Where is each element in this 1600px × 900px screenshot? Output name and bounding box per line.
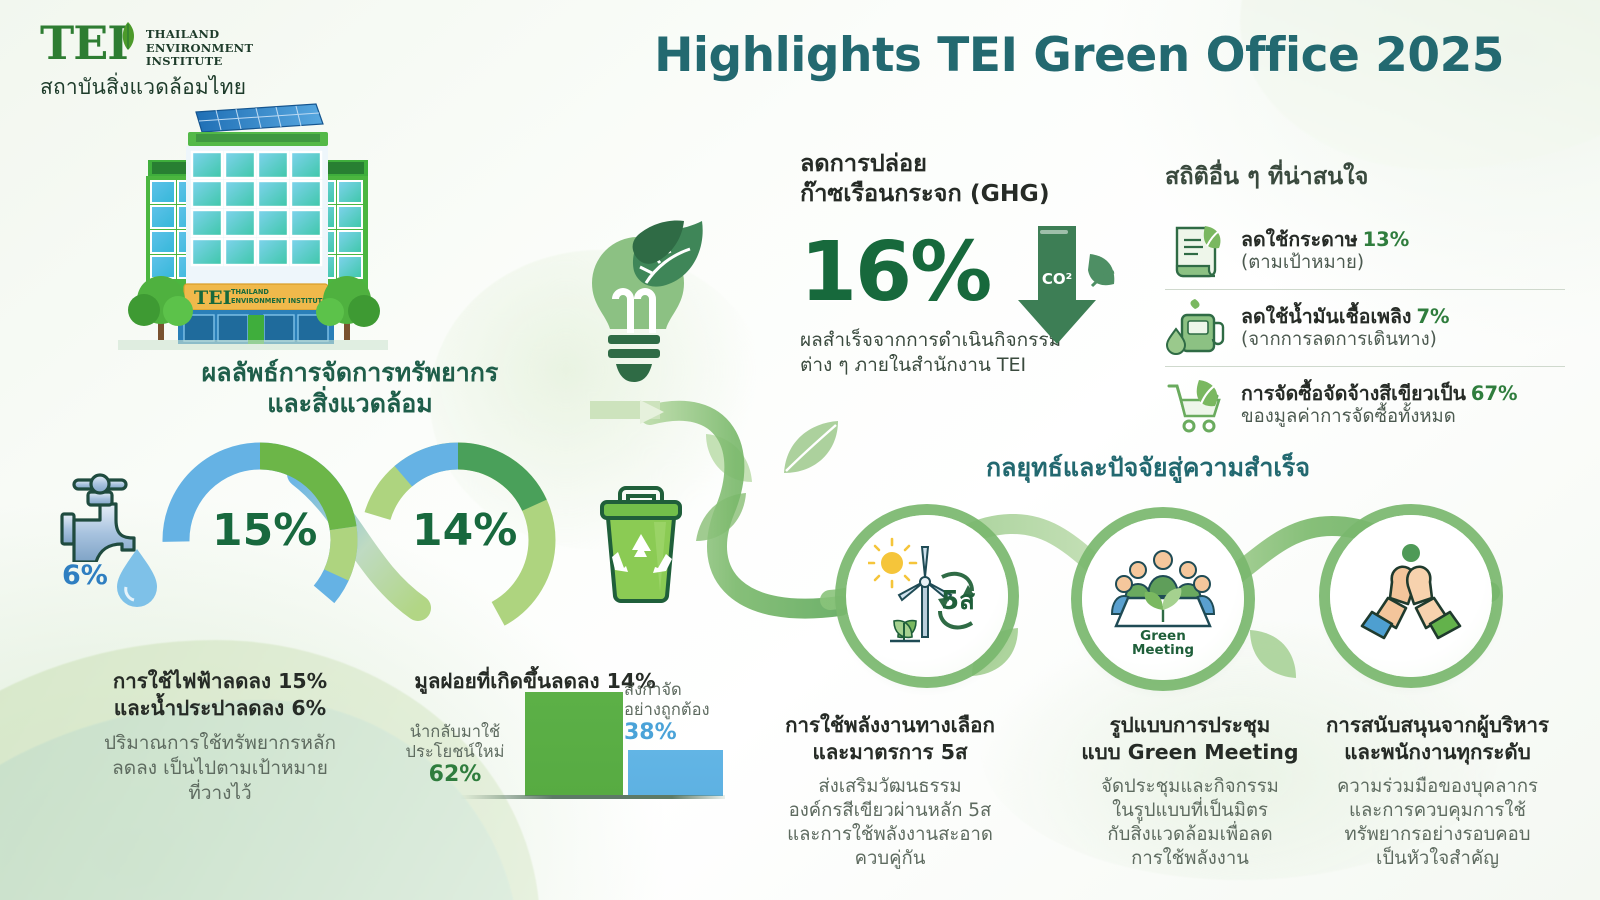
wind-turbine-5s-icon: 5ส bbox=[868, 537, 986, 655]
resources-caption-body: ปริมาณการใช้ทรัพยากรหลัก ลดลง เป็นไปตามเ… bbox=[60, 731, 380, 805]
water-reduction-value: 6% bbox=[62, 560, 108, 591]
resources-caption-title: การใช้ไฟฟ้าลดลง 15% และน้ำประปาลดลง 6% bbox=[60, 668, 380, 721]
badge-5s-label: 5ส bbox=[941, 586, 975, 616]
resources-caption: การใช้ไฟฟ้าลดลง 15% และน้ำประปาลดลง 6% ป… bbox=[60, 668, 380, 805]
resources-heading-line2: และสิ่งแวดล้อม bbox=[150, 389, 550, 420]
strategy-icon-support bbox=[1330, 515, 1492, 677]
other-stats-title: สถิติอื่น ๆ ที่น่าสนใจ bbox=[1165, 158, 1565, 195]
donut-electricity-value: 15% bbox=[212, 505, 317, 556]
strategy-card-alternative-energy: การใช้พลังงานทางเลือก และมาตรการ 5ส ส่งเ… bbox=[740, 712, 1040, 871]
stat-text-fuel: ลดใช้น้ำมันเชื้อเพลิง7% (จากการลดการเดิน… bbox=[1241, 305, 1565, 351]
strategy-card-body-1: ส่งเสริมวัฒนธรรม องค์กรสีเขียวผ่านหลัก 5… bbox=[740, 775, 1040, 871]
logo-english-name: THAILAND ENVIRONMENT INSTITUTE bbox=[146, 22, 254, 69]
co2-down-arrow-icon: CO² bbox=[1006, 226, 1116, 346]
lightbulb-leaf-icon bbox=[534, 205, 734, 430]
strategy-title: กลยุทธ์และปัจจัยสู่ความสำเร็จ bbox=[986, 448, 1310, 488]
svg-text:THAILAND: THAILAND bbox=[231, 288, 269, 296]
stat-row-fuel: ลดใช้น้ำมันเชื้อเพลิง7% (จากการลดการเดิน… bbox=[1165, 289, 1565, 366]
recycle-bin-icon bbox=[586, 472, 696, 612]
waste-bar-chart: นำกลับมาใช้ ประโยชน์ใหม่ 62% ส่งกำจัด อย… bbox=[400, 690, 700, 808]
leaf-decor-icon-3 bbox=[688, 487, 752, 551]
bar-dispose bbox=[628, 750, 723, 796]
strategy-icon-green-meeting: Green Meeting bbox=[1082, 518, 1244, 680]
page-title: Highlights TEI Green Office 2025 bbox=[654, 28, 1504, 83]
svg-text:TEI: TEI bbox=[194, 287, 232, 309]
leaf-decor-icon-5 bbox=[1244, 620, 1302, 682]
infographic-canvas: TEI THAILAND ENVIRONMENT INSTITUTE สถาบั… bbox=[0, 0, 1600, 900]
stat-text-paper: ลดใช้กระดาษ13% (ตามเป้าหมาย) bbox=[1241, 228, 1565, 274]
strategy-card-title-1: การใช้พลังงานทางเลือก และมาตรการ 5ส bbox=[740, 712, 1040, 765]
building-sign: TEI THAILAND ENVIRONMENT INSTITUTE bbox=[184, 284, 328, 310]
ghg-title: ลดการปล่อย ก๊าซเรือนกระจก (GHG) bbox=[800, 148, 1100, 208]
fuel-pump-icon bbox=[1165, 299, 1227, 357]
stat-row-paper: ลดใช้กระดาษ13% (ตามเป้าหมาย) bbox=[1165, 213, 1565, 289]
green-meeting-icon: Green Meeting bbox=[1102, 540, 1224, 658]
co2-arrow-label: CO² bbox=[1042, 270, 1072, 288]
stat-text-procurement: การจัดซื้อจัดจ้างสีเขียวเป็น67% ของมูลค่… bbox=[1241, 382, 1565, 428]
bar-chart-axis bbox=[460, 795, 725, 799]
green-cart-icon bbox=[1165, 376, 1227, 434]
paper-leaf-icon bbox=[1165, 222, 1227, 280]
donut-waste-value: 14% bbox=[412, 505, 517, 556]
bar-label-dispose: ส่งกำจัด อย่างถูกต้อง 38% bbox=[624, 680, 754, 746]
leaf-decor-icon-1 bbox=[776, 415, 846, 485]
resources-heading: ผลลัพธ์การจัดการทรัพยากร และสิ่งแวดล้อม bbox=[150, 358, 550, 419]
decorative-blob-top-right bbox=[1240, 0, 1600, 170]
strategy-icon-alternative-energy: 5ส bbox=[846, 515, 1008, 677]
badge-green-meeting-line2: Meeting bbox=[1132, 642, 1194, 658]
solar-panel-icon bbox=[196, 104, 323, 132]
logo-leaf-icon bbox=[114, 18, 140, 68]
strategy-card-support: การสนับสนุนจากผู้บริหาร และพนักงานทุกระด… bbox=[1280, 712, 1595, 871]
resources-heading-line1: ผลลัพธ์การจัดการทรัพยากร bbox=[150, 358, 550, 389]
tei-building-illustration: TEI THAILAND ENVIRONMENT INSTITUTE bbox=[118, 82, 388, 350]
bar-label-recycle: นำกลับมาใช้ ประโยชน์ใหม่ 62% bbox=[390, 722, 520, 788]
ghg-block: ลดการปล่อย ก๊าซเรือนกระจก (GHG) 16% CO² … bbox=[800, 148, 1100, 378]
strategy-card-body-3: ความร่วมมือของบุคลากร และการควบคุมการใช้… bbox=[1280, 775, 1595, 871]
water-drop-icon bbox=[112, 545, 162, 607]
handshake-icon bbox=[1352, 540, 1470, 652]
svg-text:ENVIRONMENT INSTITUTE: ENVIRONMENT INSTITUTE bbox=[231, 297, 327, 305]
stat-row-procurement: การจัดซื้อจัดจ้างสีเขียวเป็น67% ของมูลค่… bbox=[1165, 366, 1565, 443]
leaf-decor-icon-2 bbox=[700, 430, 760, 490]
other-stats-block: สถิติอื่น ๆ ที่น่าสนใจ ลดใช้กระดาษ13% (ต… bbox=[1165, 158, 1565, 443]
strategy-card-title-3: การสนับสนุนจากผู้บริหาร และพนักงานทุกระด… bbox=[1280, 712, 1595, 765]
bar-recycle bbox=[525, 692, 623, 796]
